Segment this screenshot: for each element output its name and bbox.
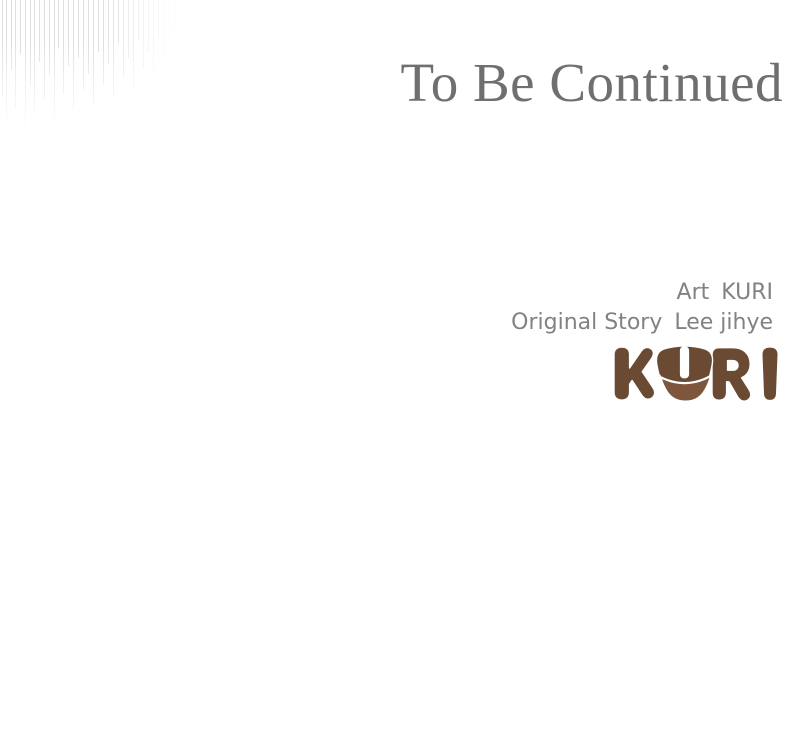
kuri-wordmark-icon: [608, 346, 790, 408]
to-be-continued-end-card: To Be Continued ArtKURI Original StoryLe…: [0, 0, 800, 730]
credit-name-original-story: Lee jihye: [674, 310, 773, 335]
page-title: To Be Continued: [0, 52, 783, 114]
credit-line-art: ArtKURI: [0, 278, 773, 308]
credits-block: ArtKURI Original StoryLee jihye: [0, 278, 773, 338]
credit-name-art: KURI: [721, 280, 773, 305]
credit-line-original-story: Original StoryLee jihye: [0, 308, 773, 338]
kuri-logo: [608, 346, 790, 408]
credit-role-original-story: Original Story: [511, 310, 662, 335]
credit-role-art: Art: [677, 280, 710, 305]
chestnut-motif-icon: [656, 346, 712, 402]
